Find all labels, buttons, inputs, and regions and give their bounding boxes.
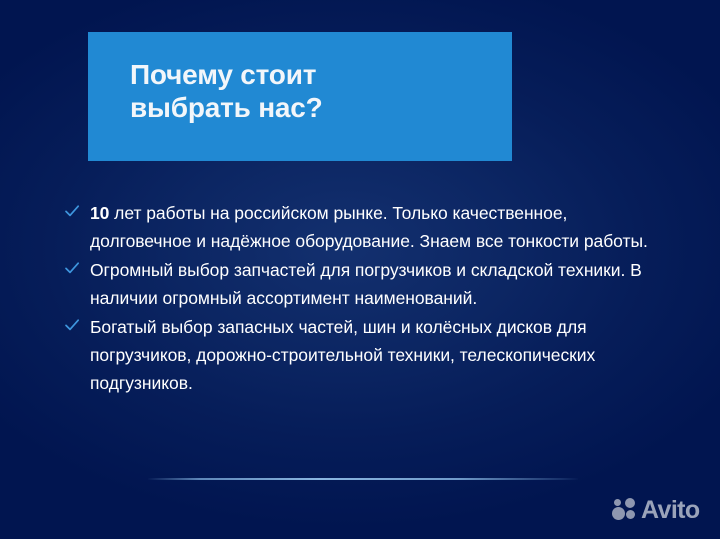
list-item: Богатый выбор запасных частей, шин и кол… bbox=[60, 313, 672, 397]
list-item-text: Богатый выбор запасных частей, шин и кол… bbox=[90, 317, 595, 393]
list-item-body: лет работы на российском рынке. Только к… bbox=[90, 203, 648, 251]
list-item-body: Огромный выбор запчастей для погрузчиков… bbox=[90, 260, 642, 308]
slide-canvas: Почему стоит выбрать нас? 10 лет работы … bbox=[0, 0, 720, 539]
list-item: 10 лет работы на российском рынке. Тольк… bbox=[60, 199, 672, 255]
divider bbox=[148, 478, 578, 480]
benefits-list: 10 лет работы на российском рынке. Тольк… bbox=[60, 199, 672, 398]
list-item-lead: 10 bbox=[90, 203, 109, 223]
page-title: Почему стоит выбрать нас? bbox=[130, 58, 496, 124]
check-icon bbox=[64, 203, 80, 219]
avito-wordmark: Avito bbox=[641, 497, 700, 523]
list-item-body: Богатый выбор запасных частей, шин и кол… bbox=[90, 317, 595, 393]
check-icon bbox=[64, 260, 80, 276]
avito-logo-icon bbox=[612, 497, 638, 523]
list-item-text: Огромный выбор запчастей для погрузчиков… bbox=[90, 260, 642, 308]
check-icon bbox=[64, 317, 80, 333]
avito-watermark: Avito bbox=[612, 497, 700, 523]
title-banner: Почему стоит выбрать нас? bbox=[88, 32, 512, 161]
list-item-text: 10 лет работы на российском рынке. Тольк… bbox=[90, 203, 648, 251]
list-item: Огромный выбор запчастей для погрузчиков… bbox=[60, 256, 672, 312]
